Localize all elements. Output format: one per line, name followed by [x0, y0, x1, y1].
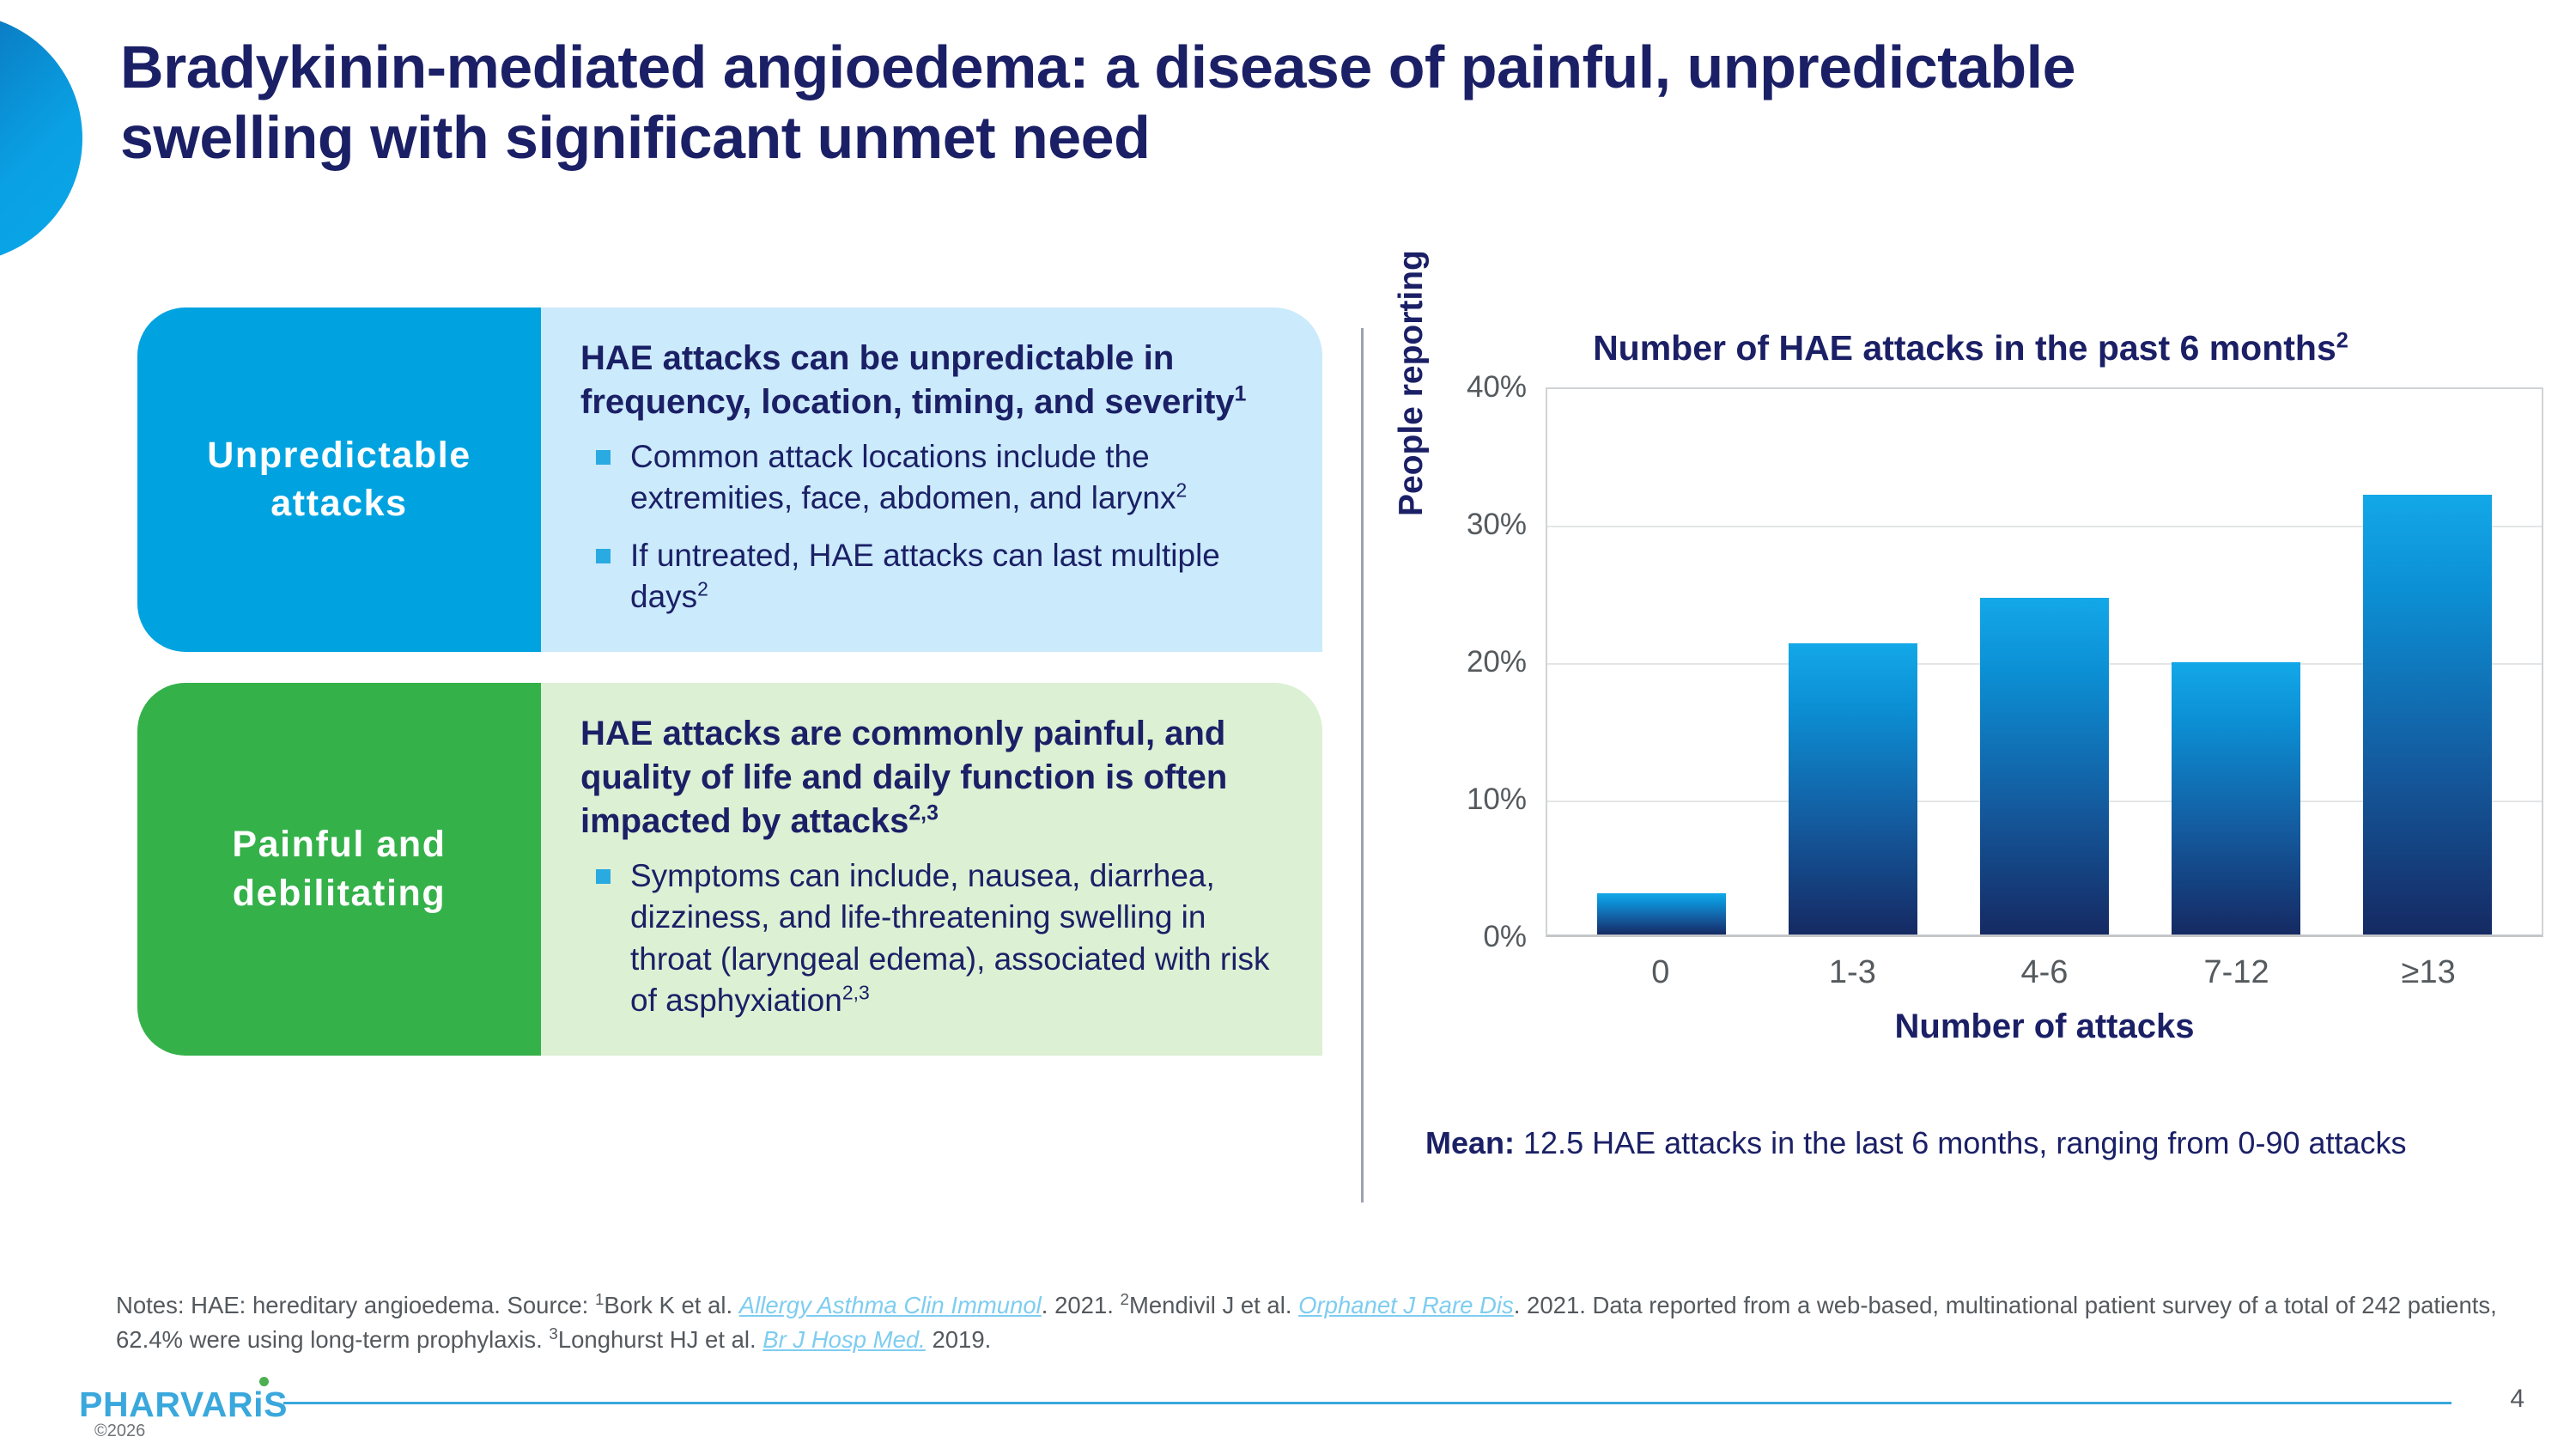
citation-link-2[interactable]: Orphanet J Rare Dis — [1298, 1292, 1514, 1318]
chart-x-tick: 7-12 — [2172, 954, 2301, 991]
chart-plot-area: People reporting 0%10%20%30%40% 01-34-67… — [1400, 387, 2550, 989]
card-label-painful: Painful and debilitating — [137, 683, 541, 1056]
bullet-square-icon — [596, 869, 611, 884]
chart-x-tick: 4-6 — [1980, 954, 2109, 991]
logo-dot-icon: i — [253, 1385, 264, 1424]
card-heading-unpredictable: HAE attacks can be unpredictable in freq… — [580, 337, 1283, 424]
heading-superscript: 1 — [1235, 383, 1247, 406]
bullet-square-icon — [596, 450, 611, 465]
chart-bar — [2172, 662, 2300, 935]
bullet-list-painful: Symptoms can include, nausea, diarrhea, … — [580, 855, 1283, 1020]
heading-superscript: 2,3 — [908, 802, 938, 825]
chart-plot — [1546, 387, 2543, 937]
chart-y-tick: 10% — [1467, 782, 1527, 817]
chart-bar — [1980, 598, 2109, 935]
card-heading-painful: HAE attacks are commonly painful, and qu… — [580, 712, 1283, 844]
page-title: Bradykinin-mediated angioedema: a diseas… — [120, 33, 2181, 174]
list-item: Common attack locations include the extr… — [592, 436, 1283, 519]
bullet-list-unpredictable: Common attack locations include the extr… — [580, 436, 1283, 617]
chart-bar — [2363, 495, 2492, 935]
footer-rule — [283, 1402, 2451, 1404]
chart-bar — [1789, 643, 1917, 935]
chart-y-tick: 20% — [1467, 645, 1527, 679]
list-item: Symptoms can include, nausea, diarrhea, … — [592, 855, 1283, 1020]
card-label-unpredictable: Unpredictable attacks — [137, 307, 541, 652]
chart-x-axis-ticks: 01-34-67-12≥13 — [1546, 954, 2543, 991]
card-painful-debilitating: Painful and debilitating HAE attacks are… — [137, 683, 1322, 1056]
column-divider — [1361, 328, 1364, 1202]
chart-panel: Number of HAE attacks in the past 6 mont… — [1391, 328, 2550, 989]
chart-y-tick: 30% — [1467, 508, 1527, 542]
chart-y-tick: 0% — [1483, 920, 1527, 954]
chart-y-axis-ticks: 0%10%20%30%40% — [1432, 387, 1535, 937]
page-number: 4 — [2510, 1385, 2524, 1414]
chart-mean-note: Mean: 12.5 HAE attacks in the last 6 mon… — [1425, 1125, 2559, 1161]
decorative-arc — [0, 14, 82, 263]
chart-x-tick: ≥13 — [2364, 954, 2493, 991]
copyright: ©2026 — [94, 1422, 145, 1441]
footnotes: Notes: HAE: hereditary angioedema. Sourc… — [116, 1288, 2503, 1357]
concept-cards: Unpredictable attacks HAE attacks can be… — [137, 307, 1322, 1056]
chart-title: Number of HAE attacks in the past 6 mont… — [1391, 328, 2550, 368]
card-body-unpredictable: HAE attacks can be unpredictable in freq… — [541, 307, 1322, 652]
chart-y-tick: 40% — [1467, 370, 1527, 405]
bullet-square-icon — [596, 549, 611, 563]
citation-link-1[interactable]: Allergy Asthma Clin Immunol — [739, 1292, 1042, 1318]
chart-y-axis-label: People reporting — [1393, 250, 1431, 516]
chart-x-tick: 0 — [1596, 954, 1725, 991]
card-body-painful: HAE attacks are commonly painful, and qu… — [541, 683, 1322, 1056]
chart-bar — [1597, 893, 1726, 935]
list-item: If untreated, HAE attacks can last multi… — [592, 535, 1283, 618]
citation-link-3[interactable]: Br J Hosp Med. — [762, 1326, 926, 1353]
chart-x-axis-label: Number of attacks — [1546, 1008, 2543, 1046]
chart-bars — [1547, 389, 2542, 935]
card-unpredictable-attacks: Unpredictable attacks HAE attacks can be… — [137, 307, 1322, 652]
chart-x-tick: 1-3 — [1788, 954, 1917, 991]
pharvaris-logo: PHARVARiS — [79, 1385, 288, 1425]
